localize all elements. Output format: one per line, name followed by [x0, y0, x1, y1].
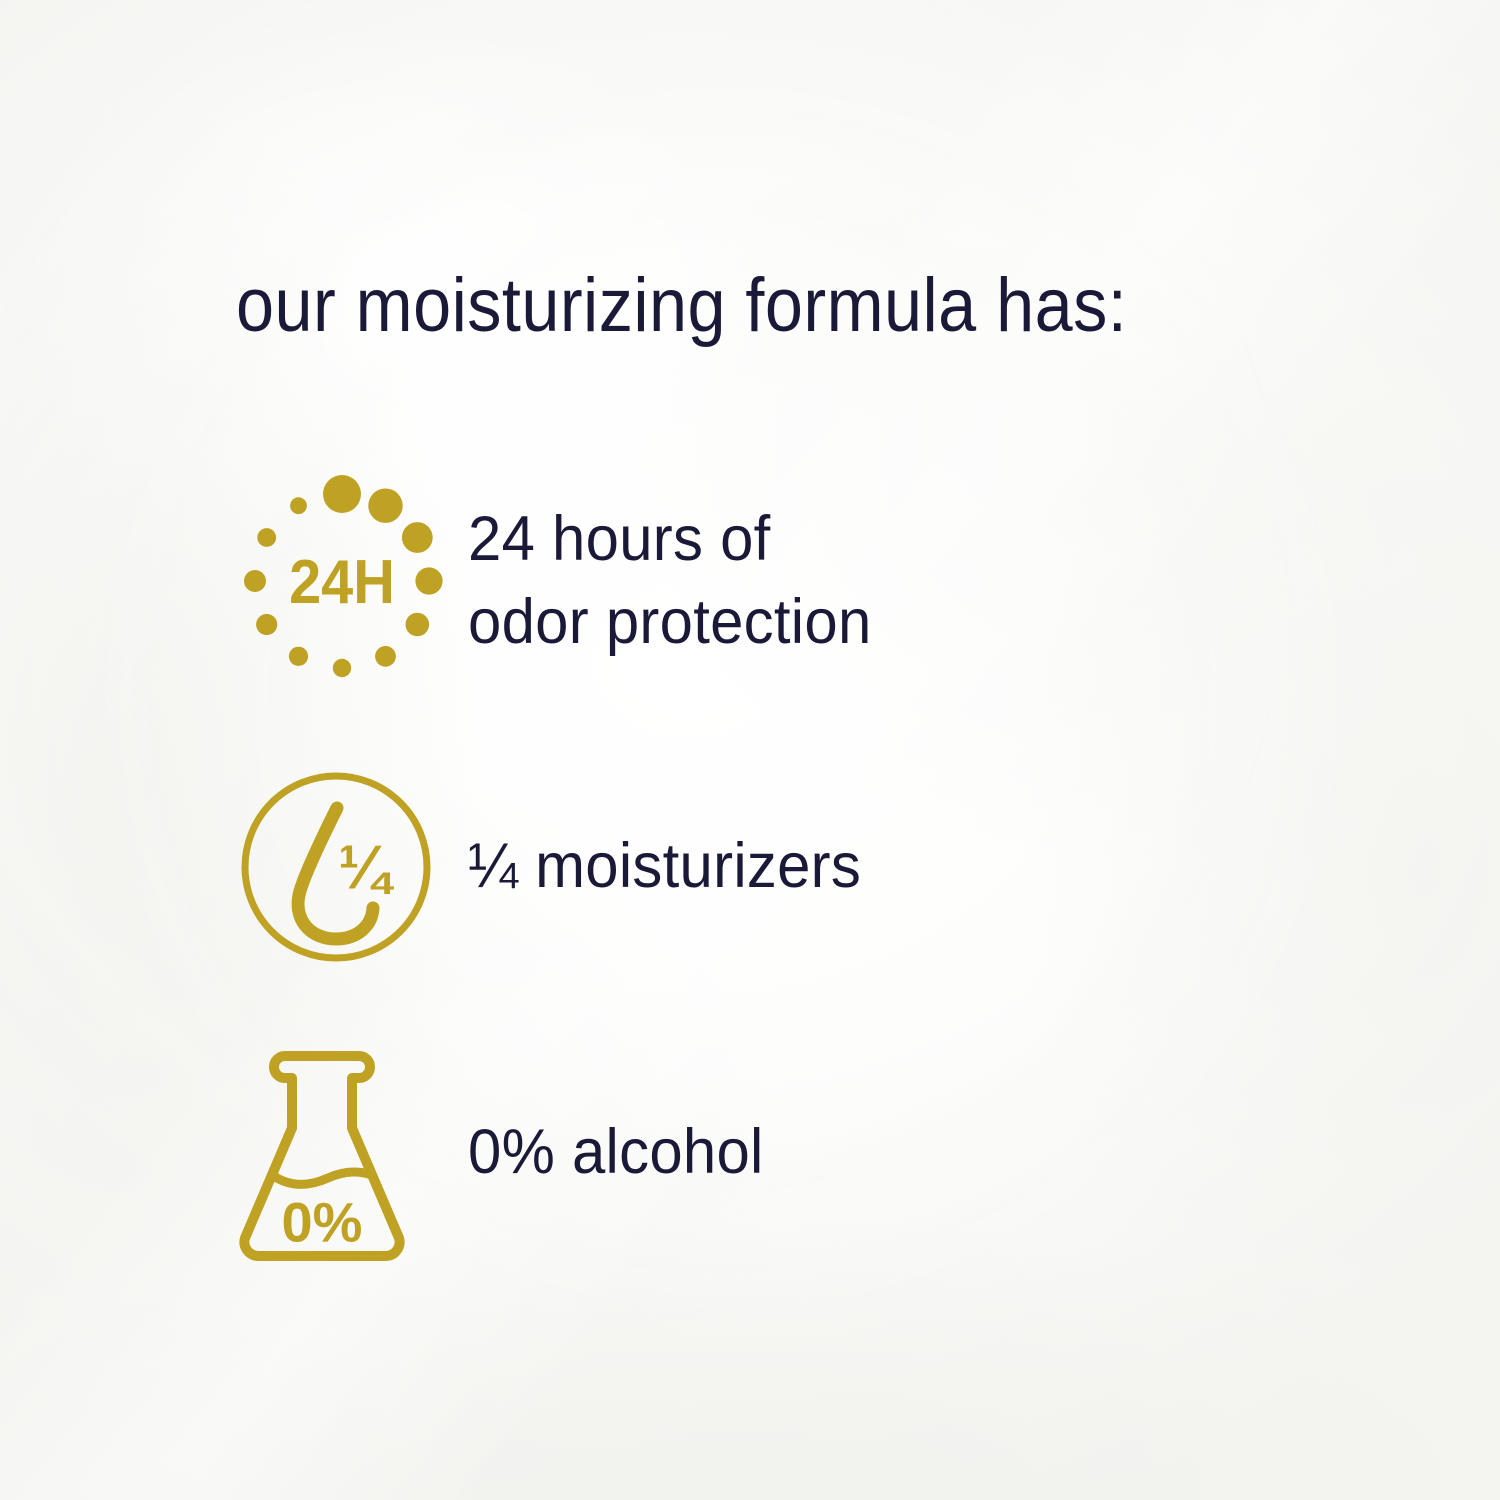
- feature-icon-slot: 24H: [236, 475, 468, 687]
- feature-label: ¼ moisturizers: [468, 825, 861, 908]
- feature-label: 24 hours of odor protection: [468, 498, 872, 664]
- page-title: our moisturizing formula has:: [236, 268, 1127, 344]
- feature-label: 0% alcohol: [468, 1111, 764, 1194]
- promo-canvas: our moisturizing formula has:: [0, 0, 1500, 1500]
- feature-list: 24H 24 hours of odor protection ¼ ¼ mois…: [0, 455, 1500, 1279]
- feature-icon-slot: 0%: [236, 1042, 468, 1264]
- twenty-four-hour-label: 24H: [289, 547, 395, 616]
- twenty-four-hour-dots-icon: 24H: [236, 475, 448, 687]
- flask-liquid-line: [272, 1172, 372, 1184]
- list-item: 0% 0% alcohol: [0, 1027, 1500, 1279]
- droplet-fraction-label: ¼: [338, 834, 394, 903]
- list-item: ¼ ¼ moisturizers: [0, 741, 1500, 993]
- flask-percent-label: 0%: [282, 1191, 363, 1254]
- list-item: 24H 24 hours of odor protection: [0, 455, 1500, 707]
- droplet-circle-icon: ¼: [236, 767, 436, 967]
- flask-icon: 0%: [236, 1042, 408, 1264]
- feature-icon-slot: ¼: [236, 767, 468, 967]
- content-root: our moisturizing formula has:: [0, 0, 1500, 1500]
